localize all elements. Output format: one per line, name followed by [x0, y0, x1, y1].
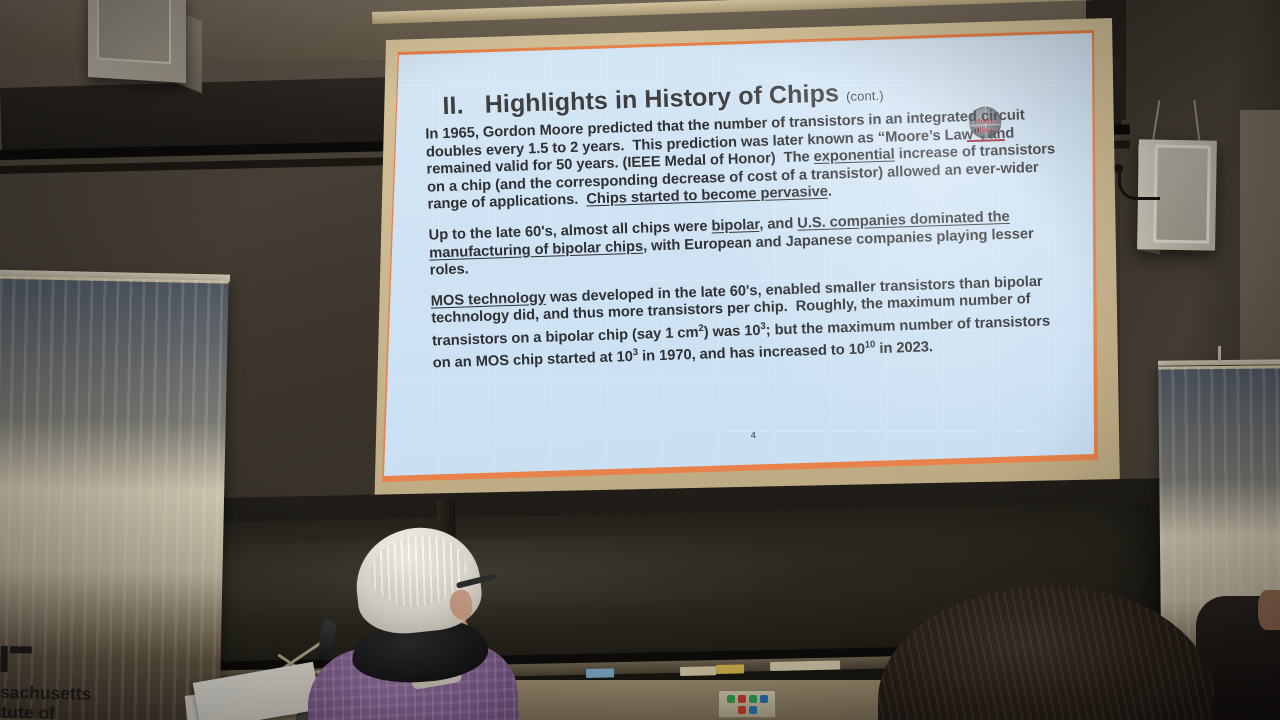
blue-button-icon[interactable] — [749, 706, 757, 714]
mit-logo-left — [0, 641, 32, 672]
presenter — [300, 528, 600, 720]
gooseneck-mic-boom — [1118, 168, 1160, 200]
green-button-icon[interactable] — [727, 695, 735, 703]
slide-content: II. Highlights in History of Chips (cont… — [382, 7, 1112, 482]
banner-line-1: Massachusetts — [0, 681, 92, 704]
slide-body: In 1965, Gordon Moore predicted that the… — [425, 106, 1063, 386]
red-button-icon[interactable] — [738, 706, 746, 714]
slide-paragraph-3: MOS technology was developed in the late… — [431, 273, 1063, 373]
speaker-grille-icon — [1153, 145, 1211, 244]
banner-fabric-stripes — [0, 276, 229, 720]
left-wall-speaker — [88, 0, 186, 83]
presentation-slide: II. Highlights in History of Chips (cont… — [382, 30, 1098, 482]
chalkboard-eraser — [680, 666, 716, 676]
slide-paragraph-2: Up to the late 60's, almost all chips we… — [428, 207, 1059, 280]
slide-number-roman: II. — [442, 91, 464, 120]
slide-page-number: 4 — [395, 419, 1111, 452]
banner-hook — [1218, 346, 1221, 362]
lecture-hall-photo: II. Highlights in History of Chips (cont… — [0, 0, 1280, 720]
av-control-panel[interactable] — [718, 690, 776, 718]
slide-paragraph-1: In 1965, Gordon Moore predicted that the… — [425, 106, 1058, 214]
mit-banner-left-text: Massachusetts Institute of Technology — [0, 681, 92, 720]
slide-title-text: Highlights in History of Chips — [484, 79, 839, 118]
blue-button-icon[interactable] — [760, 695, 768, 703]
chalk-piece — [716, 664, 744, 674]
chalkboard-eraser — [770, 661, 840, 671]
slide-title-cont: (cont.) — [846, 88, 884, 104]
gooseneck-mic-head-icon — [1114, 164, 1123, 173]
green-button-icon[interactable] — [749, 695, 757, 703]
speaker-grille-icon — [97, 0, 171, 64]
red-button-icon[interactable] — [738, 695, 746, 703]
audience-face-edge — [1258, 590, 1280, 630]
mit-banner-left: Massachusetts Institute of Technology — [0, 276, 229, 720]
right-wall-highlight — [1240, 110, 1280, 370]
banner-line-2: Institute of — [0, 701, 91, 720]
